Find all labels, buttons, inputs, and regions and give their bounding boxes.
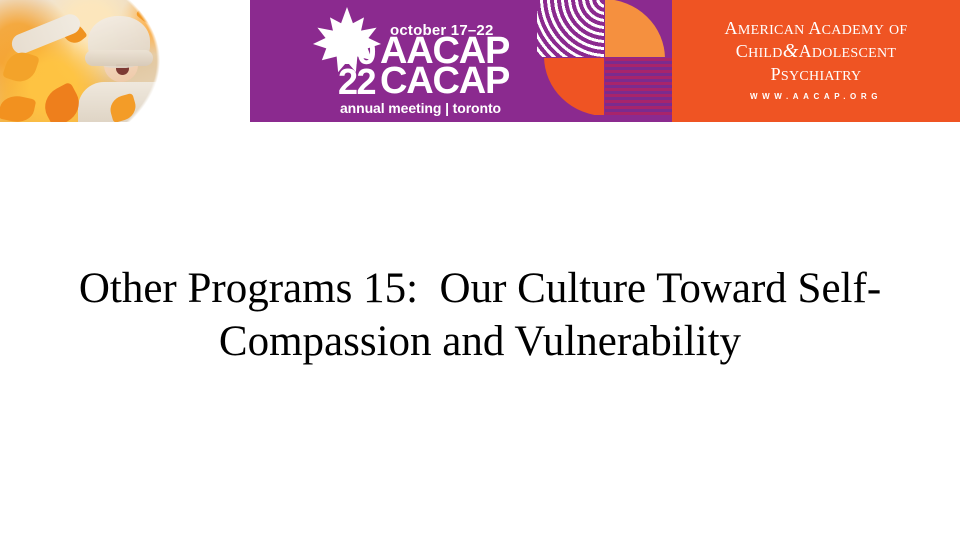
horizontal-stripes-icon <box>605 58 672 115</box>
org-small-sychiatry: SYCHIATRY <box>781 69 862 84</box>
org-ampersand: & <box>783 40 799 62</box>
org-cap-a1: A <box>725 18 738 38</box>
conference-logo: october 17–22 20 AACAP 22 CACAP annual m… <box>336 8 536 116</box>
conference-year-bottom: 22 <box>338 64 375 100</box>
org-small-merican: MERICAN <box>738 23 805 38</box>
organization-line-1: AMERICAN ACADEMY OF <box>672 18 960 41</box>
org-cap-a2: A <box>808 18 821 38</box>
photo-arm-left <box>9 11 83 57</box>
quarter-circle-orange-icon <box>544 58 604 115</box>
organization-url: WWW.AACAP.ORG <box>672 92 960 101</box>
leaf-decoration <box>201 25 231 54</box>
org-small-dolescent: DOLESCENT <box>812 46 896 61</box>
slide-title: Other Programs 15: Our Culture Toward Se… <box>40 262 920 368</box>
org-small-cademy: CADEMY <box>822 23 884 38</box>
org-cap-a3: A <box>799 41 812 61</box>
org-small-hild: HILD <box>748 46 783 61</box>
photo-hand <box>255 92 285 105</box>
leaf-decoration <box>164 12 188 35</box>
leaf-decoration <box>2 48 40 86</box>
org-cap-p: P <box>771 64 781 84</box>
conference-name-bottom: CACAP <box>380 62 509 100</box>
org-small-of: OF <box>889 23 908 38</box>
geometric-pattern-block <box>537 0 672 115</box>
concentric-arcs-icon <box>537 0 604 57</box>
slide: october 17–22 20 AACAP 22 CACAP annual m… <box>0 0 960 540</box>
pattern-cell-quarter-circle-light <box>605 0 672 57</box>
pattern-cell-arcs <box>537 0 604 57</box>
pattern-cell-quarter-circle <box>537 58 604 115</box>
header-banner: october 17–22 20 AACAP 22 CACAP annual m… <box>0 0 960 122</box>
pattern-cell-stripes <box>605 58 672 115</box>
org-cap-c: C <box>736 41 748 61</box>
autumn-photo <box>0 0 292 122</box>
leaf-decoration <box>0 93 36 122</box>
organization-line-2: CHILD&ADOLESCENT <box>672 41 960 64</box>
conference-subtitle: annual meeting | toronto <box>340 100 501 116</box>
organization-line-3: PSYCHIATRY <box>672 64 960 87</box>
organization-logo: AMERICAN ACADEMY OF CHILD&ADOLESCENT PSY… <box>672 18 960 110</box>
quarter-circle-light-orange-icon <box>605 0 665 57</box>
photo-knit-hat <box>88 16 150 68</box>
